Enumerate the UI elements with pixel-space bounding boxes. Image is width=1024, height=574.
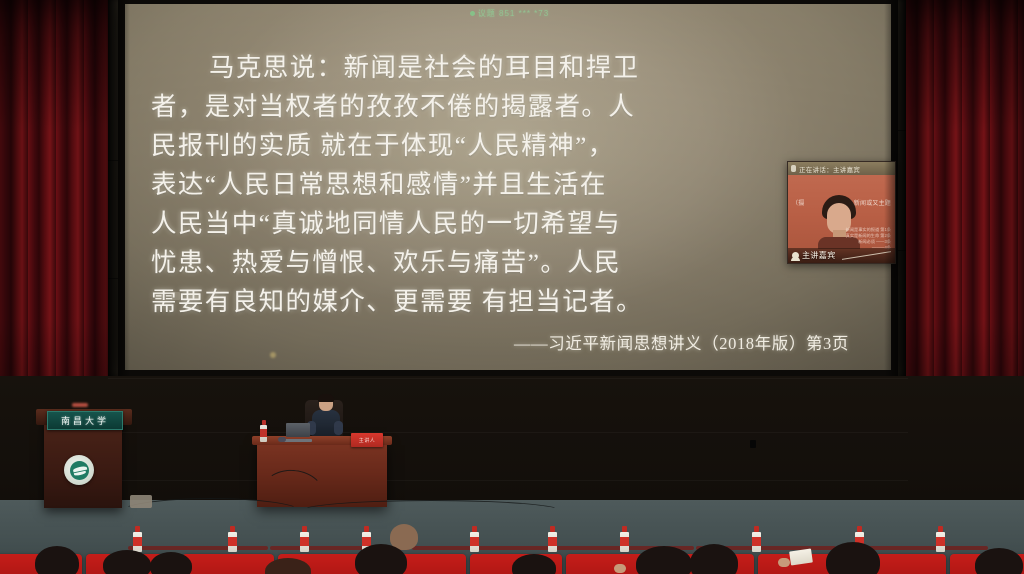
audience-head — [150, 552, 192, 574]
slide-line: 人民当中“真诚地同情人民的一切希望与 — [151, 204, 865, 243]
water-bottle-table — [260, 420, 267, 442]
auditorium-seat — [182, 554, 274, 574]
university-emblem-icon — [64, 455, 94, 485]
audience-head — [512, 554, 556, 574]
screen-ghost-marks — [155, 292, 200, 300]
speaker-nameplate-text: 主讲人 — [359, 437, 376, 444]
floor-cable-3 — [300, 500, 562, 522]
audience-head — [636, 546, 692, 574]
water-bottle-seat — [228, 526, 237, 552]
slide-line: 马克思说：新闻是社会的耳目和捍卫 — [151, 48, 865, 87]
lectern-nameplate: 南昌大学 — [47, 411, 123, 430]
audience-head — [690, 544, 738, 574]
audience-head — [975, 548, 1023, 574]
water-bottle-seat — [752, 526, 761, 552]
video-overlay-canvas: （摄 ）新闻或又主题 新闻是事实的报道 第1条 真实是新闻的生命 第2条 新闻必… — [788, 175, 895, 263]
slide-content: 马克思说：新闻是社会的耳目和捍卫 者，是对当权者的孜孜不倦的揭露者。人 民报刊的… — [125, 4, 891, 370]
lectern-lamp — [72, 403, 88, 407]
speaker-nameplate: 主讲人 — [351, 433, 383, 447]
video-overlay-header: 正在讲话：主讲嘉宾 — [788, 162, 895, 175]
lecture-hall-photo: 议题 851 *** *73 马克思说：新闻是社会的耳目和捍卫 者，是对当权者的… — [0, 0, 1024, 574]
person-icon — [792, 252, 799, 259]
audience-hand — [778, 558, 790, 567]
microphone-icon — [791, 165, 796, 172]
laptop — [284, 423, 312, 440]
seat-rail — [412, 546, 552, 550]
slide-line: 需要有良知的媒介、更需要 有担当记者。 — [151, 282, 865, 321]
water-bottle-seat — [470, 526, 479, 552]
stage-back-panel — [0, 376, 1024, 508]
audience-head — [826, 542, 880, 574]
video-overlay-header-label: 正在讲话：主讲嘉宾 — [799, 164, 860, 174]
screen-ghost-dot — [270, 352, 276, 358]
water-bottle-seat — [133, 526, 142, 552]
slide-line: 民报刊的实质 就在于体现“人民精神”， — [151, 126, 865, 165]
seat-rail — [128, 546, 268, 550]
wall-outlet — [750, 440, 756, 448]
audience-head — [103, 550, 151, 574]
lectern-nameplate-text: 南昌大学 — [61, 414, 109, 427]
slide-line: 表达“人民日常思想和感情”并且生活在 — [151, 165, 865, 204]
slide-line: 忧患、热爱与憎恨、欢乐与痛苦”。人民 — [151, 243, 865, 282]
floor-object — [130, 495, 152, 508]
video-overlay-footer-label: 主讲嘉宾 — [802, 250, 836, 261]
audience-hand — [614, 564, 626, 573]
speaker-person — [310, 395, 340, 440]
water-bottle-seat — [936, 526, 945, 552]
slide-line: 者，是对当权者的孜孜不倦的揭露者。人 — [151, 87, 865, 126]
audience-head — [35, 546, 79, 574]
video-conference-overlay[interactable]: 正在讲话：主讲嘉宾 （摄 ）新闻或又主题 新闻是事实的报道 第1条 真实是新闻的… — [787, 161, 896, 264]
water-bottle-seat — [620, 526, 629, 552]
projection-screen: 议题 851 *** *73 马克思说：新闻是社会的耳目和捍卫 者，是对当权者的… — [125, 4, 891, 370]
video-overlay-footer: 主讲嘉宾 — [788, 248, 895, 263]
water-bottle-seat — [548, 526, 557, 552]
stage-seam-mid — [108, 432, 908, 433]
slide-citation: ——习近平新闻思想讲义（2018年版）第3页 — [151, 330, 865, 354]
water-bottle-seat — [300, 526, 309, 552]
stage-seam-top — [108, 378, 908, 379]
mouse-device — [278, 437, 286, 442]
stage-seam-low — [108, 480, 908, 481]
video-inner-slide-left: （摄 — [792, 198, 804, 207]
audience-head — [355, 544, 407, 574]
